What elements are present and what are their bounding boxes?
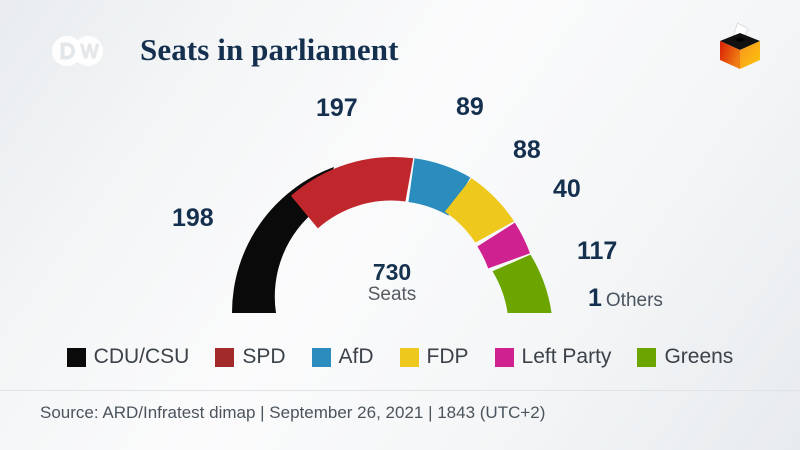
ballot-box-icon <box>712 20 768 76</box>
legend: CDU/CSU SPD AfD FDP Left Party Greens <box>0 345 800 369</box>
legend-item-cdu[interactable]: CDU/CSU <box>67 345 190 369</box>
others-value: 1 <box>588 284 602 312</box>
value-label-fdp: 88 <box>513 136 541 165</box>
dw-logo <box>46 30 110 72</box>
footer-divider <box>0 390 800 391</box>
value-label-others: 1Others <box>588 284 663 313</box>
legend-item-afd[interactable]: AfD <box>312 345 374 369</box>
legend-swatch-afd <box>312 348 331 367</box>
value-label-afd: 89 <box>456 93 484 122</box>
legend-swatch-left <box>495 348 514 367</box>
legend-label-cdu: CDU/CSU <box>94 345 190 369</box>
value-label-cdu: 198 <box>172 204 214 233</box>
total-seats-block: 730 Seats <box>332 260 452 307</box>
infographic-canvas: Seats in parliament <box>0 0 800 450</box>
legend-label-fdp: FDP <box>427 345 469 369</box>
legend-item-left[interactable]: Left Party <box>495 345 612 369</box>
legend-swatch-greens <box>637 348 656 367</box>
seats-semicircle-chart: 730 Seats 198 197 89 88 40 117 1Others <box>0 78 800 328</box>
arc-segment-spd <box>291 157 413 228</box>
value-label-spd: 197 <box>316 94 358 123</box>
legend-swatch-spd <box>215 348 234 367</box>
others-text: Others <box>606 290 663 311</box>
legend-label-left: Left Party <box>522 345 612 369</box>
legend-item-greens[interactable]: Greens <box>637 345 733 369</box>
legend-swatch-cdu <box>67 348 86 367</box>
legend-item-fdp[interactable]: FDP <box>400 345 469 369</box>
legend-label-spd: SPD <box>242 345 285 369</box>
page-title: Seats in parliament <box>140 32 399 68</box>
legend-label-greens: Greens <box>664 345 733 369</box>
total-seats-label: Seats <box>332 284 452 307</box>
value-label-left: 40 <box>553 175 581 204</box>
legend-item-spd[interactable]: SPD <box>215 345 285 369</box>
total-seats-value: 730 <box>332 260 452 284</box>
value-label-greens: 117 <box>577 237 617 266</box>
legend-label-afd: AfD <box>339 345 374 369</box>
legend-swatch-fdp <box>400 348 419 367</box>
source-line: Source: ARD/Infratest dimap | September … <box>40 403 545 423</box>
